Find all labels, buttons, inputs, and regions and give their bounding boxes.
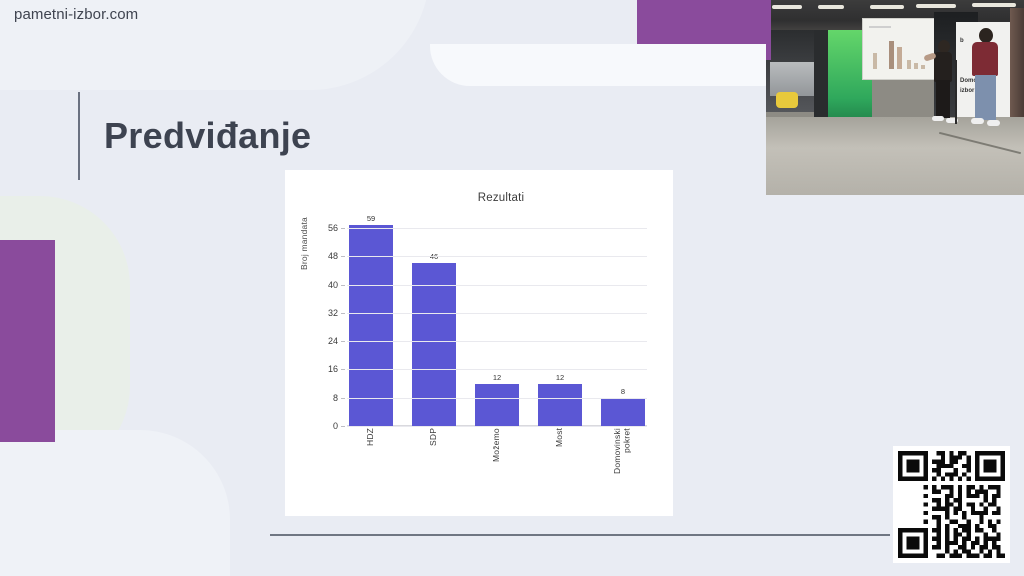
chart-gridline [347, 398, 647, 399]
qr-code[interactable] [893, 446, 1010, 563]
chart-bar-value-label: 12 [493, 373, 501, 382]
video-screen-bar [914, 63, 918, 69]
video-person-head [979, 28, 993, 43]
chart-gridline [347, 341, 647, 342]
video-purple-edge [766, 0, 771, 60]
bottom-divider [270, 534, 890, 536]
chart-y-tick: 8 [333, 393, 347, 403]
chart-gridline [347, 313, 647, 314]
chart-x-tick-group: HDZ [349, 428, 393, 514]
slide-canvas: pametni-izbor.com Predviđanje Rezultati … [0, 0, 1024, 576]
chart-bar-value-label: 59 [367, 214, 375, 223]
decorative-shape-top-right [430, 44, 770, 86]
chart-bar-group: 12 [538, 214, 582, 426]
chart-x-tick-label: SDP [429, 428, 439, 508]
video-person-torso [972, 42, 998, 76]
chart-card: Rezultati Broj mandata 594612128 0816243… [285, 170, 673, 516]
video-person-shoe [971, 118, 984, 124]
video-person-shoe [987, 120, 1000, 126]
video-ceiling-light [972, 3, 1016, 7]
title-rule [78, 92, 80, 180]
chart-gridline [347, 426, 647, 427]
video-screen-bar [907, 60, 911, 69]
video-screen-bar [897, 47, 902, 69]
decorative-shape-bottom-left [0, 430, 230, 576]
chart-y-tick: 32 [328, 308, 347, 318]
chart-bar-group: 59 [349, 214, 393, 426]
video-ceiling-light [772, 5, 802, 9]
chart-x-tick-label: Možemo [492, 428, 502, 508]
chart-x-tick-label: HDZ [366, 428, 376, 508]
video-screen-bar [873, 53, 877, 69]
video-ceiling-light [870, 5, 904, 9]
chart-x-tick-labels: HDZSDPMožemoMostDomovinski pokret [347, 428, 647, 514]
chart-y-tick: 40 [328, 280, 347, 290]
chart-x-tick-group: Most [538, 428, 582, 514]
video-mic-stand [955, 60, 957, 124]
purple-rectangle-left [0, 240, 55, 442]
chart-y-tick: 56 [328, 223, 347, 233]
video-person-torso [934, 52, 952, 82]
chart-bar-group: 46 [412, 214, 456, 426]
video-whiteboard-text: izbor [960, 88, 974, 94]
chart-y-axis-label: Broj mandata [299, 150, 309, 270]
video-yellow-chair [776, 92, 798, 108]
chart-bar-group: 12 [475, 214, 519, 426]
chart-y-tick: 48 [328, 251, 347, 261]
chart-bar[interactable] [349, 225, 393, 426]
chart-bar[interactable] [475, 384, 519, 426]
chart-y-tick: 0 [333, 421, 347, 431]
chart-gridline [347, 228, 647, 229]
presenter-camera-feed[interactable]: b Domo izbor [766, 0, 1024, 195]
chart-bar[interactable] [538, 384, 582, 426]
purple-rectangle-top [637, 0, 767, 44]
chart-title: Rezultati [285, 192, 673, 204]
chart-x-tick-label: Domovinski pokret [613, 428, 632, 508]
video-person-shoe [932, 116, 944, 121]
video-person-legs [936, 80, 950, 118]
chart-bar[interactable] [601, 398, 645, 426]
video-floor [766, 117, 1024, 195]
chart-plot-area: 594612128 08162432404856 [347, 214, 647, 426]
chart-bar[interactable] [412, 263, 456, 426]
page-title-text: Predviđanje [104, 115, 311, 157]
video-ceiling-light [818, 5, 844, 9]
site-label: pametni-izbor.com [14, 6, 138, 23]
chart-y-tick: 16 [328, 364, 347, 374]
page-title: Predviđanje [78, 92, 311, 180]
chart-bar-value-label: 8 [621, 387, 625, 396]
chart-bar-group: 8 [601, 214, 645, 426]
chart-x-tick-group: Domovinski pokret [601, 428, 645, 514]
chart-y-tick: 24 [328, 336, 347, 346]
video-screen-text-line [869, 26, 891, 28]
video-screen-bar [921, 65, 925, 69]
video-ceiling-light [916, 4, 956, 8]
chart-x-tick-label: Most [555, 428, 565, 508]
chart-gridline [347, 369, 647, 370]
video-person-legs [975, 75, 996, 120]
chart-bars: 594612128 [347, 214, 647, 426]
chart-x-tick-group: SDP [412, 428, 456, 514]
chart-x-tick-group: Možemo [475, 428, 519, 514]
chart-bar-value-label: 12 [556, 373, 564, 382]
video-projector-screen [862, 18, 940, 80]
video-screen-bar [889, 41, 894, 69]
chart-gridline [347, 285, 647, 286]
video-whiteboard-text: b [960, 38, 964, 44]
chart-gridline [347, 256, 647, 257]
